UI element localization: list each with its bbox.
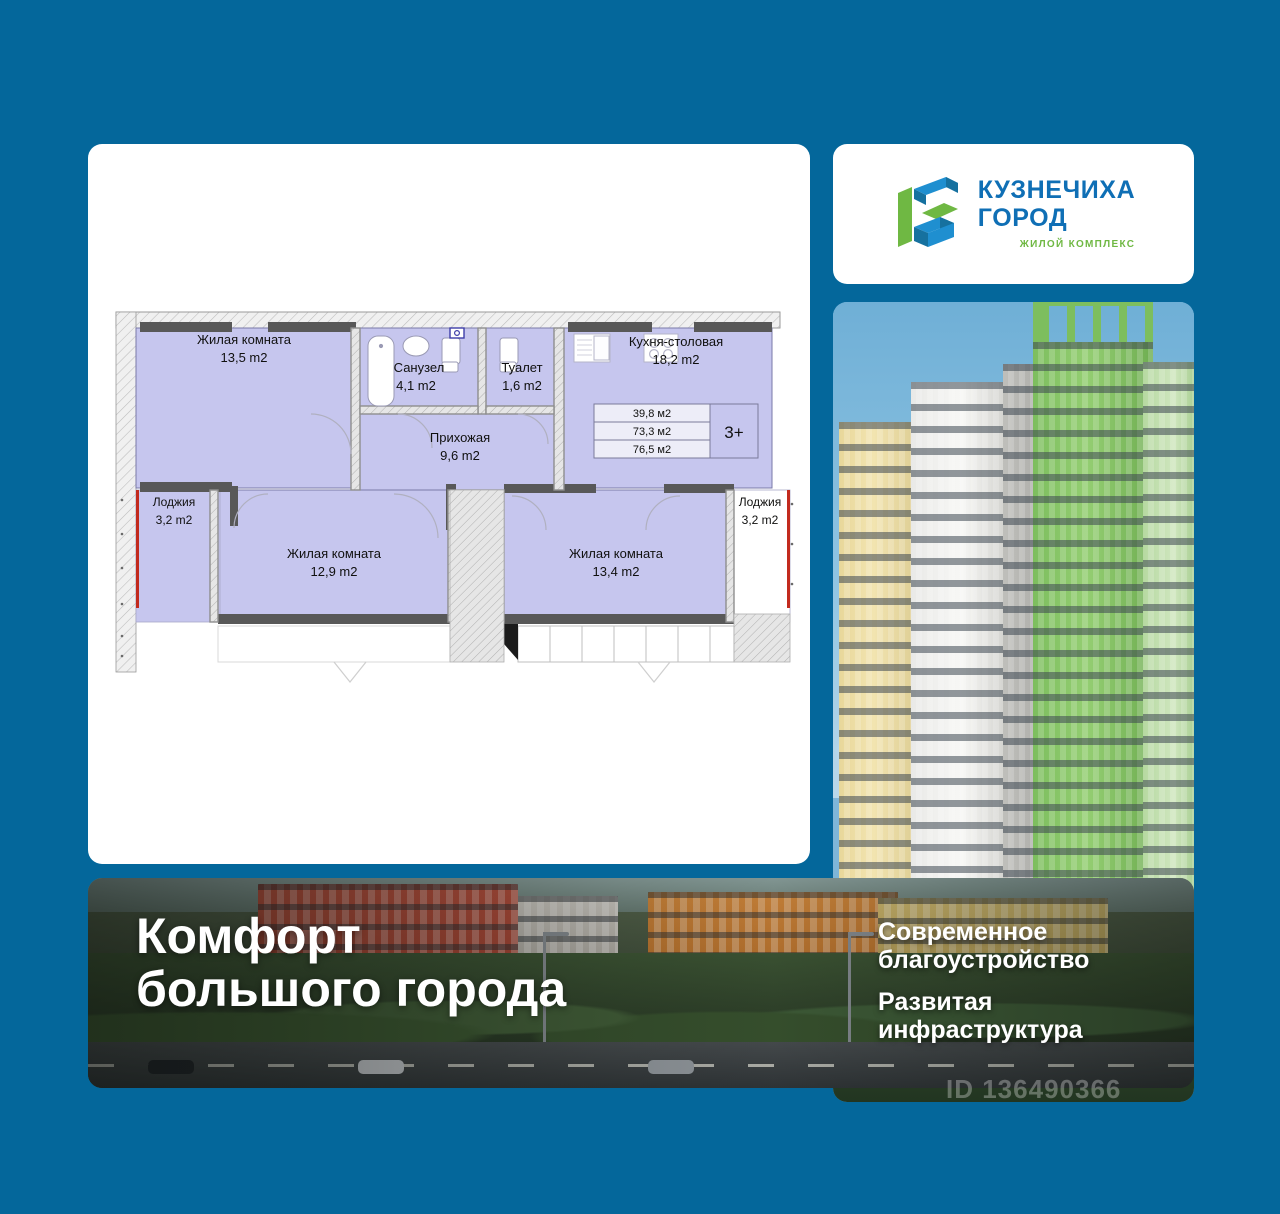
area-living: 39,8 м2 [633,408,671,420]
room-label-8-name: Жилая комната [569,546,664,561]
feature-2-line1: Развитая [878,988,1178,1016]
feature-text-overlay: Современное благоустройство Развитая инф… [878,918,1178,1044]
room-label-2-name: Туалет [501,360,542,375]
watermark-id: ID 136490366 [946,1074,1121,1105]
room-label-4-name: Прихожая [430,430,490,445]
brand-text: КУЗНЕЧИХА ГОРОД ЖИЛОЙ КОМПЛЕКС [978,178,1136,250]
room-label-8-area: 13,4 m2 [593,564,640,579]
kuznechiha-k-logo-icon [892,173,964,255]
room-label-5-area: 3,2 m2 [156,513,193,527]
room-label-3-area: 18,2 m2 [653,352,700,367]
banner-headline: Комфорт большого города [136,910,776,1016]
brand-logo-card: КУЗНЕЧИХА ГОРОД ЖИЛОЙ КОМПЛЕКС [833,144,1194,284]
feature-1-line1: Современное [878,918,1178,946]
room-label-1-area: 4,1 m2 [396,378,436,393]
room-label-2-area: 1,6 m2 [502,378,542,393]
poster-canvas: Жилая комната 13,5 m2 Санузел 4,1 m2 Туа… [0,0,1280,1214]
feature-2-line2: инфраструктура [878,1016,1178,1044]
floorplan-wrapper: Жилая комната 13,5 m2 Санузел 4,1 m2 Туа… [88,144,810,864]
feature-1-line2: благоустройство [878,946,1178,974]
room-label-7-area: 12,9 m2 [311,564,358,579]
floorplan-card: Жилая комната 13,5 m2 Санузел 4,1 m2 Туа… [88,144,810,864]
headline-line1: Комфорт [136,910,776,963]
room-label-3-name: Кухня-столовая [629,334,723,349]
rooms-count-badge: 3+ [724,423,743,442]
brand-line2: ГОРОД [978,206,1068,231]
room-label-4-area: 9,6 m2 [440,448,480,463]
brand-line1: КУЗНЕЧИХА [978,178,1136,203]
area-total: 73,3 м2 [633,426,671,438]
brand-subtitle: ЖИЛОЙ КОМПЛЕКС [1020,240,1135,250]
room-label-1-name: Санузел [394,360,445,375]
area-summary-table: 39,8 м2 73,3 м2 76,5 м2 3+ [594,404,758,458]
room-label-6-area: 3,2 m2 [742,513,779,527]
room-label-5-name: Лоджия [153,495,196,509]
room-label-7-name: Жилая комната [287,546,382,561]
headline-line2: большого города [136,963,776,1016]
room-label-6-name: Лоджия [739,495,782,509]
room-label-0-name: Жилая комната [197,332,292,347]
room-label-0-area: 13,5 m2 [221,350,268,365]
area-total-with-loggia: 76,5 м2 [633,444,671,456]
floorplan-drawing: Жилая комната 13,5 m2 Санузел 4,1 m2 Туа… [98,304,798,704]
